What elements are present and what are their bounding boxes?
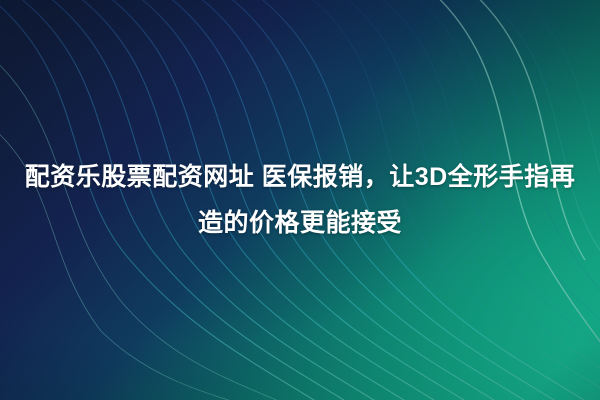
banner-title-line-2: 造的价格更能接受: [14, 200, 586, 246]
banner-image: 配资乐股票配资网址 医保报销，让3D全形手指再 造的价格更能接受: [0, 0, 600, 400]
banner-title: 配资乐股票配资网址 医保报销，让3D全形手指再 造的价格更能接受: [0, 154, 600, 246]
banner-title-line-1: 配资乐股票配资网址 医保报销，让3D全形手指再: [14, 154, 586, 200]
